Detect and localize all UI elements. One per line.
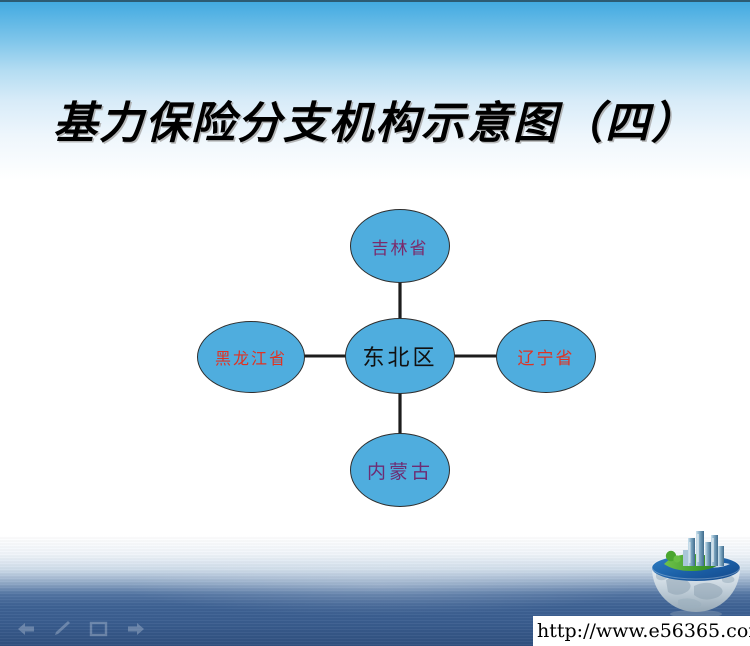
diagram-node-neimenggu-label: 内蒙古 — [367, 457, 433, 484]
diagram-node-liaoning[interactable]: 辽宁省 — [496, 320, 596, 393]
diagram-node-jilin-label: 吉林省 — [372, 234, 429, 259]
watermark-url-plate: http://www.e56365.com — [533, 616, 750, 646]
org-diagram: 吉林省 黑龙江省 东北区 辽宁省 内蒙古 — [0, 0, 750, 646]
slide-box-icon[interactable] — [88, 620, 110, 638]
diagram-node-heilongjiang-label: 黑龙江省 — [215, 345, 287, 369]
pen-icon[interactable] — [52, 620, 74, 638]
diagram-node-jilin[interactable]: 吉林省 — [350, 209, 450, 283]
back-arrow-icon[interactable] — [16, 620, 38, 638]
diagram-node-neimenggu[interactable]: 内蒙古 — [350, 433, 450, 507]
presentation-slide: 基力保险分支机构示意图（四） 吉林省 黑龙江省 东北区 辽宁省 内蒙古 — [0, 0, 750, 646]
diagram-node-heilongjiang[interactable]: 黑龙江省 — [197, 321, 305, 393]
watermark-url: http://www.e56365.com — [533, 620, 750, 642]
diagram-node-dongbeiqu-label: 东北区 — [362, 340, 437, 372]
diagram-node-liaoning-label: 辽宁省 — [518, 344, 575, 369]
globe-city-buildings — [683, 531, 724, 566]
globe-tree-icon — [673, 555, 680, 562]
diagram-node-dongbeiqu[interactable]: 东北区 — [345, 318, 455, 394]
slideshow-controls — [16, 620, 146, 638]
earth-globe-city-logo — [648, 528, 744, 620]
forward-arrow-icon[interactable] — [124, 620, 146, 638]
